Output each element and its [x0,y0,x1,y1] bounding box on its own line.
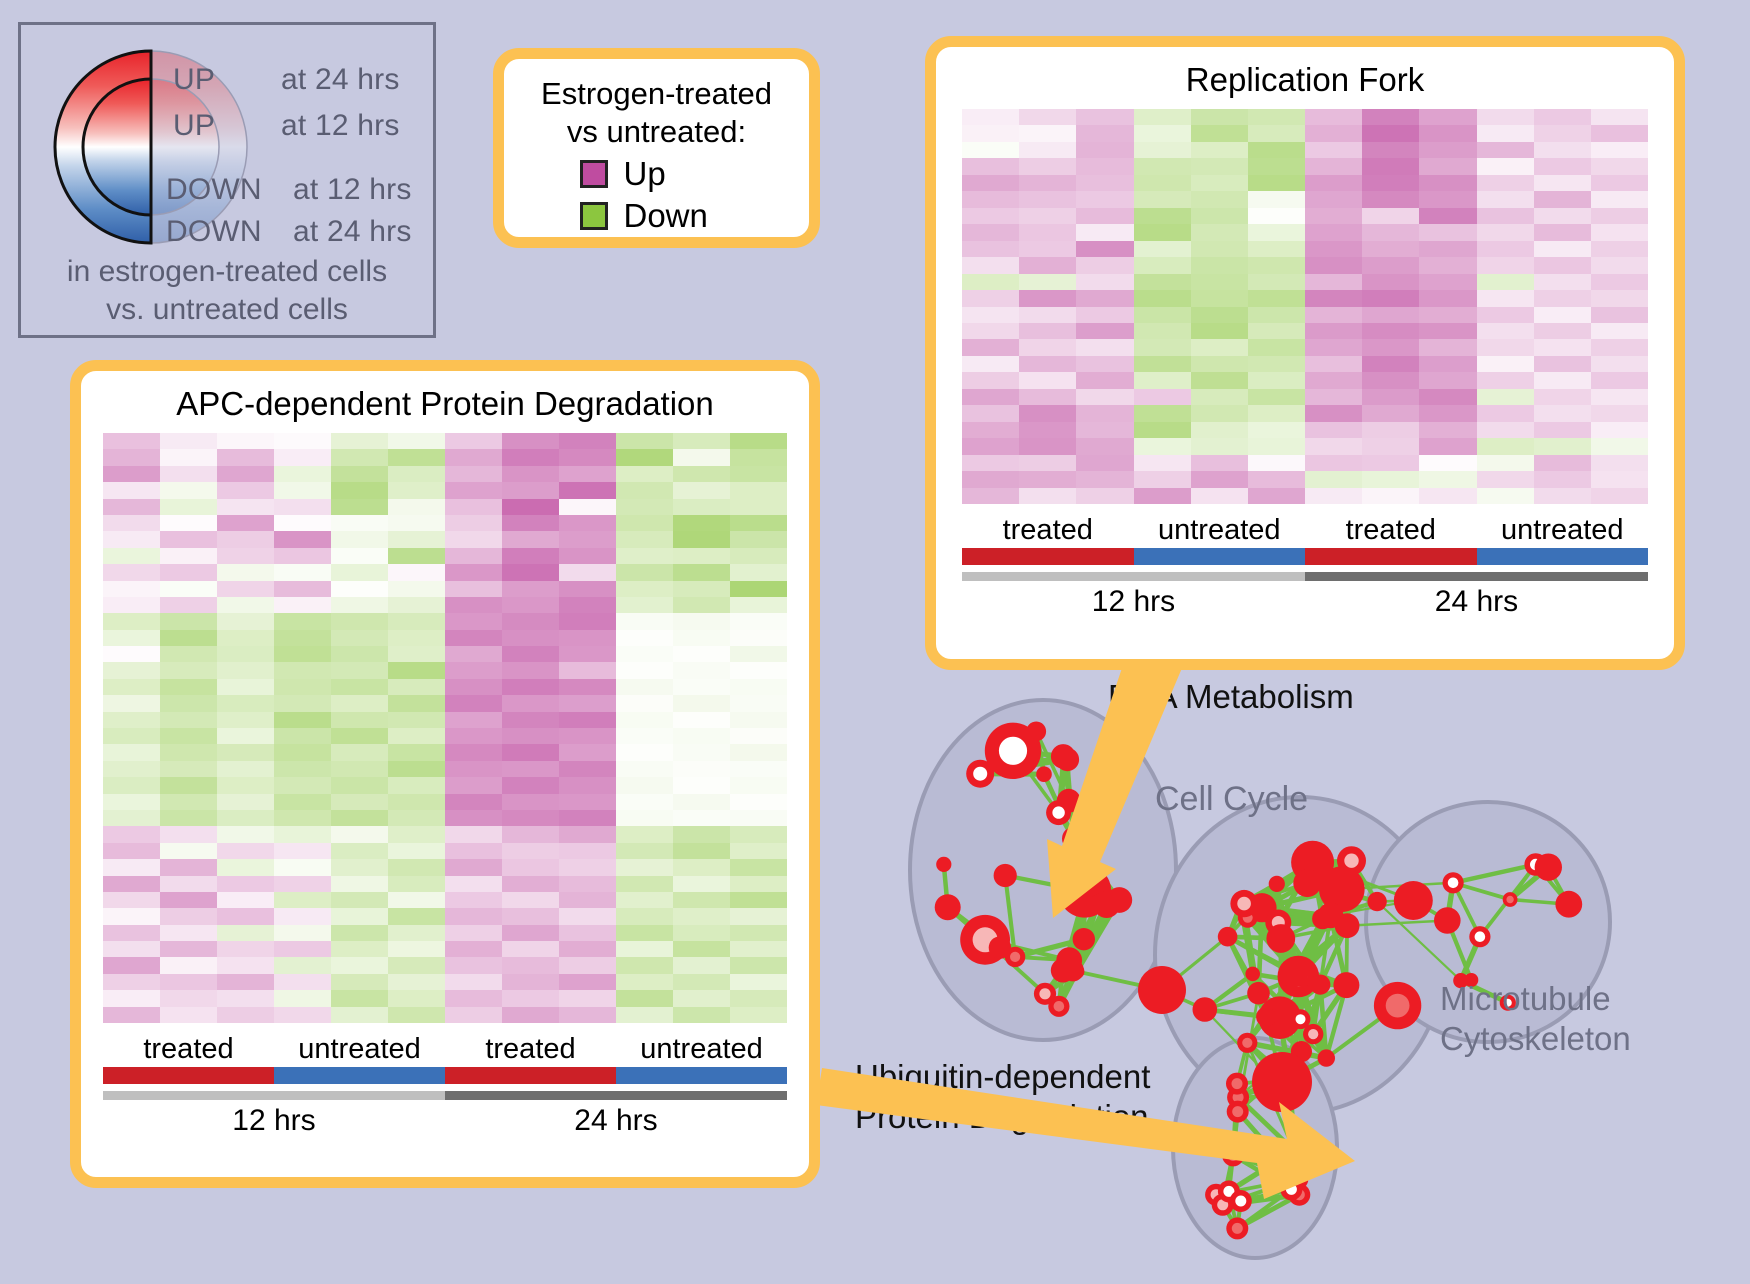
heatmap-cell [103,433,160,449]
heatmap-cell [730,581,787,597]
heatmap-cell [673,466,730,482]
heatmap-cell [559,777,616,793]
heatmap-cell [445,925,502,941]
heatmap-cell [1076,471,1133,487]
heatmap-cell [1076,323,1133,339]
heatmap-cell [103,794,160,810]
heatmap-cell [1305,142,1362,158]
network-node[interactable] [1394,881,1433,920]
heatmap-cell [103,859,160,875]
heatmap-cell [388,662,445,678]
network-node[interactable] [1266,924,1295,953]
heatmap-cell [388,613,445,629]
heatmap-cell [217,908,274,924]
heatmap-cell [274,630,331,646]
heatmap-cell [445,548,502,564]
heatmap-cell [274,728,331,744]
heatmap-cell [331,794,388,810]
heatmap-cell [1191,405,1248,421]
heatmap-cell [274,564,331,580]
heatmap-cell [730,613,787,629]
heatmap-cell [217,515,274,531]
heatmap-cell [962,175,1019,191]
heatmap-cell [1248,389,1305,405]
group-bar-untreated-24 [1477,548,1649,565]
heatmap-cell [1534,257,1591,273]
heatmap-cell [331,662,388,678]
heatmap-cell [1362,405,1419,421]
heatmap-cell [103,679,160,695]
heatmap-cell [1191,142,1248,158]
heatmap-cell [502,712,559,728]
network-node[interactable] [1076,869,1103,896]
network-node[interactable] [1138,966,1186,1014]
network-node-core [1052,806,1064,818]
heatmap-cell [331,581,388,597]
heatmap-cell [1477,125,1534,141]
heatmap-cell [388,449,445,465]
heatmap-cell [962,274,1019,290]
time-label-12: 12 hrs [103,1100,445,1142]
heatmap-cell [673,974,730,990]
heatmap-cell [1305,422,1362,438]
heatmap-cell [274,761,331,777]
heatmap-cell [1076,455,1133,471]
heatmap-cell [1591,142,1648,158]
heatmap-cell [730,974,787,990]
heatmap-cell [616,499,673,515]
heatmap-cell [1362,208,1419,224]
heatmap-cell [1477,307,1534,323]
heatmap-cell [1362,339,1419,355]
network-node[interactable] [1333,972,1359,998]
heatmap-cell [160,941,217,957]
heatmap-cell [160,630,217,646]
heatmap-cell [559,876,616,892]
heatmap-cell [103,777,160,793]
heatmap-cell [1191,356,1248,372]
heatmap-cell [559,908,616,924]
network-node-core [1344,854,1358,868]
network-node[interactable] [1367,892,1386,911]
heatmap-cell [217,433,274,449]
heatmap-cell [445,597,502,613]
heatmap-cell [730,941,787,957]
heatmap-cell [1019,175,1076,191]
network-node[interactable] [1318,1049,1335,1066]
heatmap-cell [274,646,331,662]
heatmap-cell [103,581,160,597]
heatmap-cell [559,712,616,728]
heatmap-cell [1248,307,1305,323]
heatmap-cell [1362,372,1419,388]
heatmap-cell [673,597,730,613]
heatmap-cell [445,449,502,465]
heatmap-cell [616,728,673,744]
heatmap-cell [1076,125,1133,141]
heatmap-cell [1534,224,1591,240]
heatmap-cell [1534,471,1591,487]
heatmap-cell [673,744,730,760]
network-node[interactable] [1036,766,1052,782]
heatmap-cell [1134,257,1191,273]
network-node[interactable] [1256,1007,1276,1027]
heatmap-cell [445,876,502,892]
heatmap-cell [559,826,616,842]
heatmap-cell [559,662,616,678]
legend-footer: in estrogen-treated cells vs. untreated … [21,253,433,329]
heatmap-cell [673,515,730,531]
heatmap-cell [1419,158,1476,174]
heatmap-cell [274,515,331,531]
heatmap-cell [1134,125,1191,141]
heatmap-cell [388,499,445,515]
heatmap-cell [730,826,787,842]
heatmap-cell [103,662,160,678]
heatmap-cell [1362,356,1419,372]
heatmap-cell [388,515,445,531]
heatmap-cell [217,597,274,613]
heatmap-cell [1362,422,1419,438]
heatmap-cell [445,482,502,498]
heatmap-cell [1362,274,1419,290]
heatmap-cell [1076,290,1133,306]
heatmap-cell [1248,241,1305,257]
heatmap-cell [331,974,388,990]
network-node[interactable] [1252,1052,1312,1112]
network-node[interactable] [1293,869,1321,897]
group-bar-treated-12 [103,1067,274,1084]
heatmap-cell [673,957,730,973]
network-node-core [973,767,987,781]
heatmap-cell [730,843,787,859]
key-item-up: Up [504,155,809,193]
network-node[interactable] [1026,722,1046,742]
heatmap-cell [1076,356,1133,372]
heatmap-cell [502,515,559,531]
heatmap-cell [730,695,787,711]
heatmap-cell [103,531,160,547]
heatmap-cell [673,859,730,875]
heatmap-cell [1305,175,1362,191]
heatmap-cell [502,449,559,465]
heatmap-cell [103,925,160,941]
heatmap-cell [331,679,388,695]
heatmap-cell [217,892,274,908]
network-node[interactable] [1434,907,1461,934]
heatmap-cell [962,290,1019,306]
heatmap-cell [730,482,787,498]
heatmap-cell [730,564,787,580]
heatmap-cell [274,433,331,449]
heatmap-cell [331,941,388,957]
heatmap-cell [1248,208,1305,224]
heatmap-cell [1248,339,1305,355]
axis-rf-time-labels: 12 hrs 24 hrs [962,581,1648,623]
heatmap-cell [1591,125,1648,141]
heatmap-cell [160,777,217,793]
heatmap-cell [1362,241,1419,257]
heatmap-cell [1477,339,1534,355]
heatmap-cell [616,482,673,498]
heatmap-cell [502,777,559,793]
heatmap-cell [673,646,730,662]
heatmap-cell [673,531,730,547]
heatmap-cell [559,925,616,941]
heatmap-cell [160,892,217,908]
heatmap-cell [160,548,217,564]
heatmap-cell [1248,471,1305,487]
axis-label-untreated-12: untreated [274,1031,445,1067]
heatmap-cell [103,744,160,760]
heatmap-cell [445,843,502,859]
heatmap-cell [274,695,331,711]
heatmap-cell [445,957,502,973]
network-node[interactable] [994,864,1017,887]
legend-time-down-12: at 12 hrs [293,173,412,207]
heatmap-cell [559,941,616,957]
network-node-core [1228,1150,1239,1161]
time-label-12: 12 hrs [962,581,1305,623]
heatmap-cell [1191,307,1248,323]
cluster-label-cell-cycle: Cell Cycle [1155,780,1308,819]
heatmap-cell [445,744,502,760]
heatmap-cell [1248,438,1305,454]
heatmap-cell [1305,488,1362,504]
heatmap-cell [1191,125,1248,141]
heatmap-cell [388,810,445,826]
network-node[interactable] [1247,982,1270,1005]
heatmap-cell [445,531,502,547]
heatmap-cell [559,499,616,515]
heatmap-cell [445,1007,502,1023]
group-bar-untreated-12 [1134,548,1306,565]
heatmap-cell [388,892,445,908]
heatmap-cell [1534,455,1591,471]
heatmap-cell [274,974,331,990]
heatmap-cell [331,548,388,564]
heatmap-cell [388,564,445,580]
heatmap-cell [388,531,445,547]
heatmap-cell [388,777,445,793]
heatmap-cell [1419,274,1476,290]
network-node[interactable] [1310,975,1330,995]
heatmap-cell [331,449,388,465]
heatmap-cell [1477,241,1534,257]
heatmap-cell [1305,191,1362,207]
heatmap-cell [1362,323,1419,339]
heatmap-cell [1191,208,1248,224]
heatmap-cell [1305,372,1362,388]
heatmap-cell [559,1007,616,1023]
heatmap-cell [730,908,787,924]
heatmap-cell [962,488,1019,504]
panel-apc-title: APC-dependent Protein Degradation [103,385,787,423]
heatmap-cell [160,597,217,613]
heatmap-cell [445,499,502,515]
heatmap-cell [217,777,274,793]
time-bar-24 [1305,572,1648,581]
heatmap-cell [1534,125,1591,141]
heatmap-cell [1534,175,1591,191]
heatmap-cell [388,974,445,990]
heatmap-cell [1134,356,1191,372]
heatmap-cell [1534,372,1591,388]
heatmap-cell [160,581,217,597]
network-node[interactable] [1245,967,1260,982]
heatmap-cell [1477,109,1534,125]
heatmap-cell [1305,438,1362,454]
network-node[interactable] [1555,891,1582,918]
heatmap-cell [103,876,160,892]
heatmap-cell [1591,438,1648,454]
heatmap-cell [1248,257,1305,273]
heatmap-cell [331,433,388,449]
heatmap-cell [388,1007,445,1023]
heatmap-cell [274,581,331,597]
heatmap-cell [274,826,331,842]
heatmap-cell [274,777,331,793]
heatmap-cell [1076,257,1133,273]
heatmap-cell [1019,290,1076,306]
heatmap-cell [1019,274,1076,290]
heatmap-cell [331,990,388,1006]
up-swatch-icon [580,160,608,188]
heatmap-cell [962,389,1019,405]
heatmap-cell [445,908,502,924]
heatmap-cell [160,646,217,662]
heatmap-cell [331,908,388,924]
heatmap-cell [1534,389,1591,405]
heatmap-cell [160,826,217,842]
network-node[interactable] [1218,927,1238,947]
heatmap-cell [673,876,730,892]
network-node[interactable] [1062,827,1086,851]
heatmap-cell [616,466,673,482]
heatmap-cell [445,613,502,629]
heatmap-cell [160,679,217,695]
heatmap-cell [1362,257,1419,273]
network-node[interactable] [1051,958,1075,982]
time-bar-12 [103,1091,445,1100]
heatmap-cell [1019,438,1076,454]
axis-apc-time-labels: 12 hrs 24 hrs [103,1100,787,1142]
heatmap-cell [962,455,1019,471]
heatmap-cell [388,794,445,810]
heatmap-cell [1534,142,1591,158]
heatmap-cell [274,941,331,957]
heatmap-cell [445,679,502,695]
network-node[interactable] [1073,928,1095,950]
heatmap-cell [559,810,616,826]
heatmap-cell [1419,125,1476,141]
heatmap-cell [1591,208,1648,224]
heatmap-cell [502,695,559,711]
heatmap-cell [1591,455,1648,471]
heatmap-cell [502,957,559,973]
heatmap-cell [1419,488,1476,504]
heatmap-cell [160,843,217,859]
network-node[interactable] [1279,958,1308,987]
network-node[interactable] [1106,887,1132,913]
heatmap-cell [1019,158,1076,174]
heatmap-cell [1591,224,1648,240]
heatmap-cell [616,646,673,662]
cluster-label-dna-metabolism: DNA Metabolism [1108,678,1354,716]
network-node[interactable] [989,936,1011,958]
heatmap-cell [445,990,502,1006]
heatmap-cell [445,892,502,908]
heatmap-cell [1134,405,1191,421]
heatmap-cell [160,908,217,924]
heatmap-cell [502,679,559,695]
network-node-core [1288,1145,1299,1156]
heatmap-cell [274,597,331,613]
heatmap-cell [1248,455,1305,471]
heatmap-cell [1534,290,1591,306]
heatmap-cell [1419,224,1476,240]
heatmap-cell [1591,389,1648,405]
network-node[interactable] [936,857,951,872]
heatmap-cell [217,466,274,482]
heatmap-cell [1134,175,1191,191]
heatmap-cell [1477,175,1534,191]
heatmap-cell [331,695,388,711]
heatmap-cell [1248,356,1305,372]
heatmap-cell [217,712,274,728]
heatmap-cell [559,564,616,580]
heatmap-cell [730,744,787,760]
heatmap-cell [103,597,160,613]
network-node[interactable] [935,894,961,920]
heatmap-cell [1019,455,1076,471]
heatmap-cell [730,794,787,810]
network-node[interactable] [1535,854,1562,881]
network-node[interactable] [1193,997,1218,1022]
heatmap-cell [1019,356,1076,372]
heatmap-cell [1419,389,1476,405]
heatmap-cell [559,449,616,465]
heatmap-cell [502,826,559,842]
heatmap-cell [502,531,559,547]
network-node-core [1010,952,1020,962]
heatmap-cell [502,876,559,892]
network-node-core [1296,1014,1306,1024]
heatmap-cell [1591,158,1648,174]
heatmap-cell [1477,438,1534,454]
heatmap-cell [217,876,274,892]
heatmap-cell [559,597,616,613]
network-node[interactable] [1269,876,1285,892]
heatmap-cell [559,679,616,695]
heatmap-cell [559,531,616,547]
heatmap-cell [1305,323,1362,339]
heatmap-cell [1191,158,1248,174]
heatmap-cell [673,679,730,695]
heatmap-cell [502,581,559,597]
heatmap-cell [217,662,274,678]
heatmap-cell [962,191,1019,207]
heatmap-cell [388,466,445,482]
heatmap-cell [160,613,217,629]
heatmap-cell [103,695,160,711]
heatmap-cell [502,613,559,629]
heatmap-cell [1248,405,1305,421]
network-node[interactable] [1318,903,1344,929]
heatmap-cell [1076,274,1133,290]
heatmap-cell [1191,109,1248,125]
network-node[interactable] [1056,748,1079,771]
